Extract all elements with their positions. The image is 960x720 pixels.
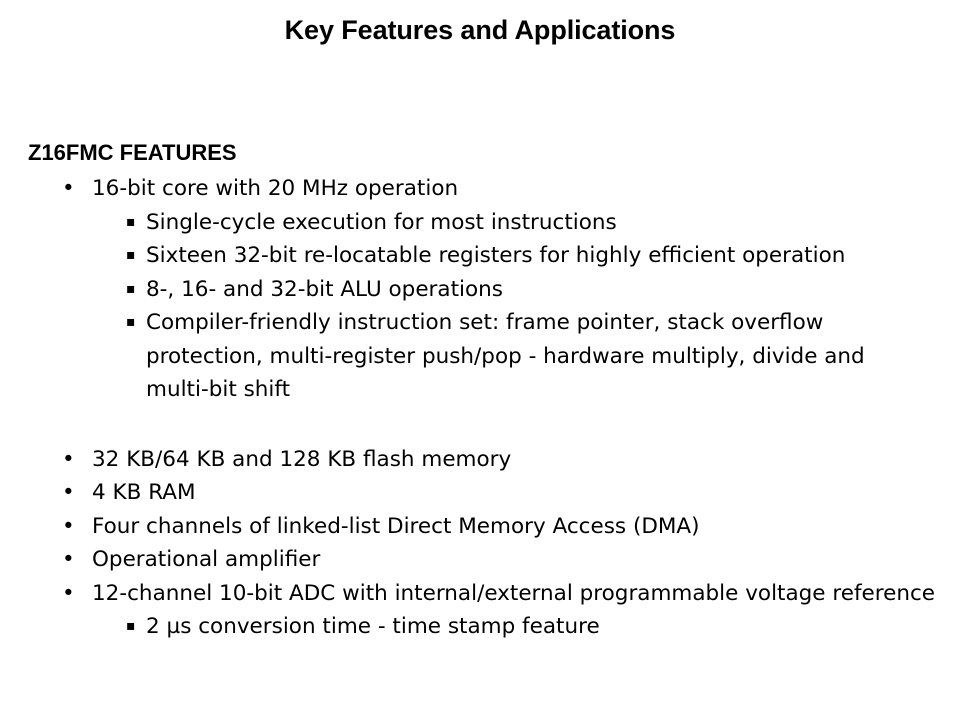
feature-sublist: ▪ 2 µs conversion time - time stamp feat… [146, 610, 936, 644]
list-group-spacer [0, 407, 960, 443]
list-item-label: Sixteen 32-bit re-locatable registers fo… [146, 239, 910, 273]
bullet-square-icon: ▪ [126, 610, 140, 644]
list-item: • 32 KB/64 KB and 128 KB flash memory [92, 443, 936, 477]
page-title: Key Features and Applications [0, 14, 960, 46]
feature-sublist: ▪ Single-cycle execution for most instru… [146, 206, 936, 407]
list-item-label: Four channels of linked-list Direct Memo… [92, 510, 936, 544]
list-item: • 12-channel 10-bit ADC with internal/ex… [92, 577, 936, 644]
list-item: ▪ Sixteen 32-bit re-locatable registers … [146, 239, 910, 273]
bullet-square-icon: ▪ [126, 273, 140, 307]
list-item: • 16-bit core with 20 MHz operation ▪ Si… [92, 172, 936, 407]
list-item: • Four channels of linked-list Direct Me… [92, 510, 936, 544]
section-heading: Z16FMC FEATURES [28, 138, 960, 168]
slide: Key Features and Applications Z16FMC FEA… [0, 0, 960, 720]
list-item-label: Operational amplifier [92, 543, 936, 577]
list-item: • Operational amplifier [92, 543, 936, 577]
bullet-dot-icon: • [62, 443, 82, 477]
list-item-label: Compiler-friendly instruction set: frame… [146, 306, 910, 407]
bullet-square-icon: ▪ [126, 239, 140, 273]
list-item-label: 12-channel 10-bit ADC with internal/exte… [92, 577, 936, 611]
bullet-dot-icon: • [62, 543, 82, 577]
slide-body: Z16FMC FEATURES • 16-bit core with 20 MH… [0, 138, 960, 644]
list-item: ▪ 2 µs conversion time - time stamp feat… [146, 610, 910, 644]
bullet-dot-icon: • [62, 577, 82, 611]
bullet-dot-icon: • [62, 476, 82, 510]
list-item-label: 32 KB/64 KB and 128 KB flash memory [92, 443, 936, 477]
list-item-label: 4 KB RAM [92, 476, 936, 510]
bullet-dot-icon: • [62, 510, 82, 544]
bullet-dot-icon: • [62, 172, 82, 206]
list-item: • 4 KB RAM [92, 476, 936, 510]
list-item-label: 2 µs conversion time - time stamp featur… [146, 610, 910, 644]
list-item-label: Single-cycle execution for most instruct… [146, 206, 910, 240]
list-item-label: 16-bit core with 20 MHz operation [92, 172, 936, 206]
feature-list-group-2: • 32 KB/64 KB and 128 KB flash memory • … [0, 443, 960, 644]
bullet-square-icon: ▪ [126, 206, 140, 240]
list-item: ▪ 8-, 16- and 32-bit ALU operations [146, 273, 910, 307]
list-item-label: 8-, 16- and 32-bit ALU operations [146, 273, 910, 307]
list-item: ▪ Compiler-friendly instruction set: fra… [146, 306, 910, 407]
bullet-square-icon: ▪ [126, 306, 140, 340]
feature-list-group-1: • 16-bit core with 20 MHz operation ▪ Si… [0, 172, 960, 407]
list-item: ▪ Single-cycle execution for most instru… [146, 206, 910, 240]
